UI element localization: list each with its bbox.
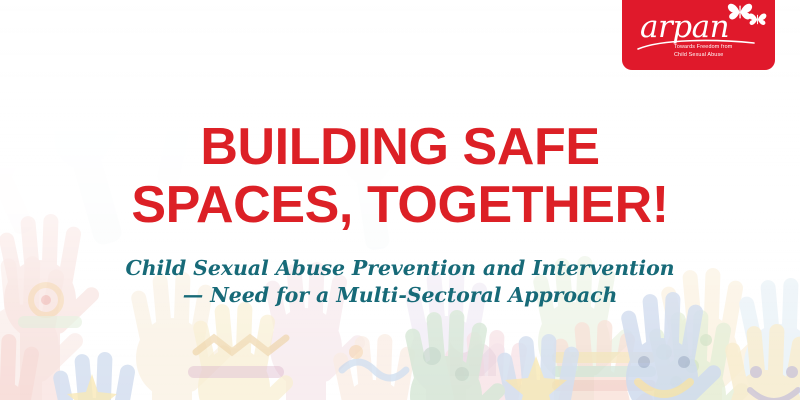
arpan-logo[interactable]: arpan Towards Freedom from Child Sexual … — [622, 0, 775, 70]
subtitle-line-1: Child Sexual Abuse Prevention and Interv… — [0, 255, 800, 282]
logo-tagline-line1: Towards Freedom from — [674, 44, 772, 52]
headline-line-1: BUILDING SAFE — [0, 118, 800, 176]
logo-inner: arpan Towards Freedom from Child Sexual … — [622, 0, 775, 70]
headline-line-2: SPACES, TOGETHER! — [0, 176, 800, 234]
page-subtitle: Child Sexual Abuse Prevention and Interv… — [0, 255, 800, 309]
subtitle-line-2: — Need for a Multi-Sectoral Approach — [0, 282, 800, 309]
banner: arpan Towards Freedom from Child Sexual … — [0, 0, 800, 400]
logo-tagline: Towards Freedom from Child Sexual Abuse — [674, 44, 772, 59]
page-title: BUILDING SAFE SPACES, TOGETHER! — [0, 118, 800, 234]
butterfly-icon — [748, 12, 767, 32]
logo-tagline-line2: Child Sexual Abuse — [674, 52, 772, 60]
